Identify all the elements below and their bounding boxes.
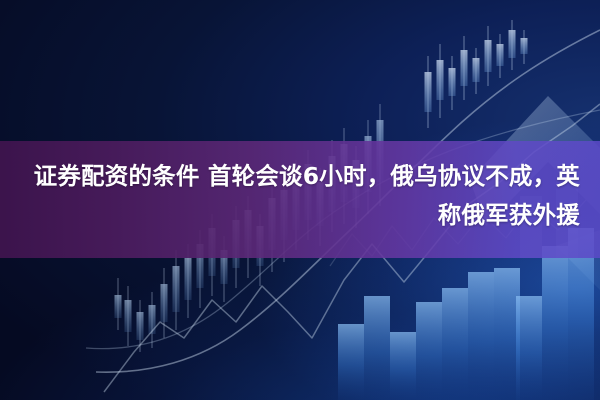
candlestick-group-upper-right <box>425 20 528 128</box>
page-title: 证券配资的条件 首轮会谈6小时，俄乌协议不成，英称俄军获外援 <box>0 141 600 258</box>
promo-banner: 证券配资的条件 首轮会谈6小时，俄乌协议不成，英称俄军获外援 <box>0 0 600 400</box>
